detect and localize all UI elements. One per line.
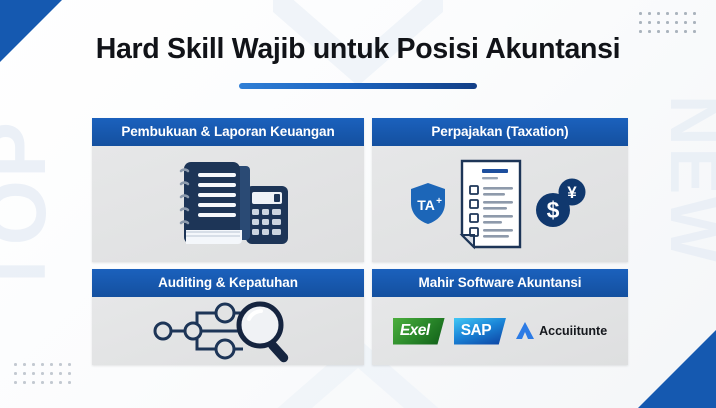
card-auditing[interactable]: Auditing & Kepatuhan [92, 269, 364, 365]
watermark-left: TOP [0, 120, 58, 297]
card-software-title: Mahir Software Akuntansi [372, 269, 628, 297]
logo-accuiitunte[interactable]: Accuiitunte [515, 321, 607, 341]
card-auditing-title: Auditing & Kepatuhan [92, 269, 364, 297]
card-perpajakan[interactable]: Perpajakan (Taxation) TA + [372, 118, 628, 262]
page-title: Hard Skill Wajib untuk Posisi Akuntansi [0, 33, 716, 66]
tax-form-document-icon [458, 158, 524, 250]
dot-grid-bottom-left-icon [14, 363, 73, 386]
ledger-book-and-calculator-icon [162, 156, 294, 252]
card-software-body: Exel SAP Accuiitunte [372, 297, 628, 365]
svg-text:$: $ [547, 197, 560, 223]
tax-shield-icon: TA + [408, 181, 448, 227]
logo-sap[interactable]: SAP [454, 318, 506, 345]
card-software[interactable]: Mahir Software Akuntansi Exel SAP Accuii… [372, 269, 628, 365]
skill-card-grid: Pembukuan & Laporan Keuangan [92, 118, 628, 365]
logo-accuiitunte-label: Accuiitunte [539, 324, 607, 338]
watermark-right: NEW [660, 95, 716, 264]
currency-coins-icon: ¥ $ [534, 176, 592, 232]
tax-shield-label: TA [417, 197, 435, 213]
logo-exel[interactable]: Exel [393, 318, 445, 345]
card-perpajakan-body: TA + [372, 146, 628, 262]
card-perpajakan-title: Perpajakan (Taxation) [372, 118, 628, 146]
card-pembukuan-title: Pembukuan & Laporan Keuangan [92, 118, 364, 146]
dot-grid-top-right-icon [639, 12, 698, 35]
title-underline-rule [239, 83, 477, 89]
magnifier-icon [239, 304, 290, 363]
card-pembukuan[interactable]: Pembukuan & Laporan Keuangan [92, 118, 364, 262]
card-pembukuan-body [92, 146, 364, 262]
audit-flow-and-magnifier-icon [145, 299, 311, 363]
software-logo-row: Exel SAP Accuiitunte [393, 318, 607, 345]
svg-text:¥: ¥ [567, 183, 577, 202]
card-auditing-body [92, 297, 364, 365]
svg-text:+: + [436, 196, 442, 207]
title-block: Hard Skill Wajib untuk Posisi Akuntansi [0, 33, 716, 89]
slide-canvas: TOP NEW Hard Skill Wajib untuk Posisi Ak… [0, 0, 716, 408]
corner-triangle-bottom-right-icon [638, 330, 716, 408]
accuiitunte-triangle-icon [515, 321, 535, 341]
